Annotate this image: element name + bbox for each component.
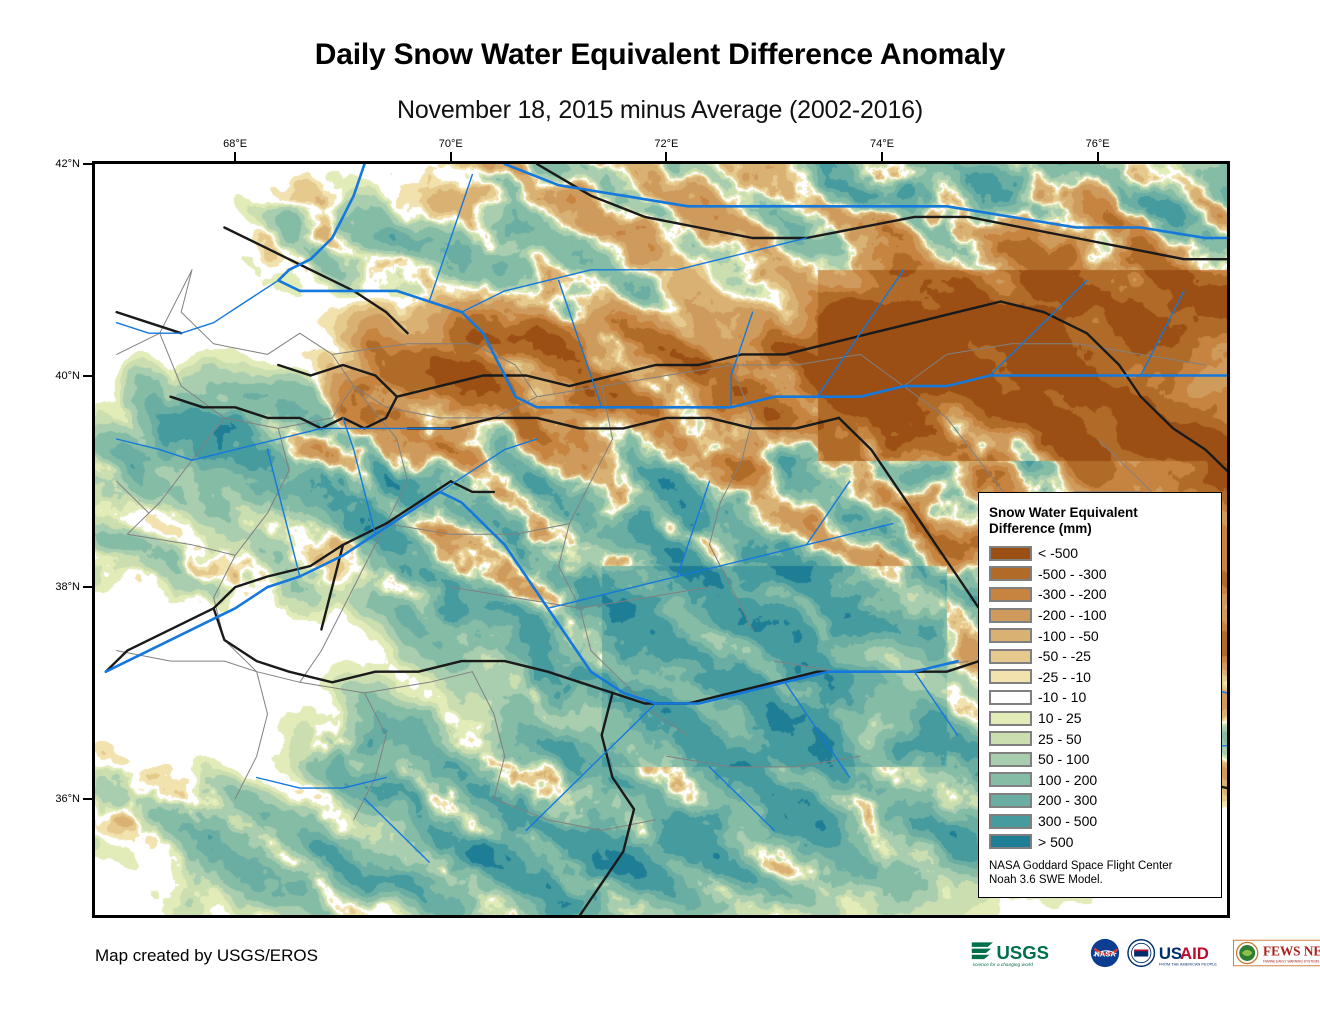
legend-color-swatch — [989, 731, 1032, 746]
legend-entry: -500 - -300 — [989, 564, 1211, 585]
legend-color-swatch — [989, 711, 1032, 726]
lon-tick — [665, 152, 667, 161]
legend-entry: 25 - 50 — [989, 728, 1211, 749]
legend-entry-list: < -500-500 - -300-300 - -200-200 - -100-… — [989, 543, 1211, 852]
legend-color-swatch — [989, 587, 1032, 602]
national-border — [214, 481, 979, 703]
legend-color-swatch — [989, 566, 1032, 581]
legend-entry: < -500 — [989, 543, 1211, 564]
legend-entry: > 500 — [989, 831, 1211, 852]
legend-color-swatch — [989, 669, 1032, 684]
legend-entry: 10 - 25 — [989, 708, 1211, 729]
river-minor — [559, 280, 602, 407]
svg-text:AID: AID — [1180, 944, 1209, 963]
legend-entry-label: -300 - -200 — [1038, 586, 1106, 602]
river-minor — [731, 312, 753, 407]
river-minor — [462, 238, 807, 312]
lon-tick-label: 76°E — [1086, 138, 1110, 150]
admin-boundary — [472, 672, 504, 799]
legend-color-swatch — [989, 834, 1032, 849]
river-minor — [268, 450, 300, 577]
lon-tick — [450, 152, 452, 161]
lon-tick — [1097, 152, 1099, 161]
legend-entry-label: -200 - -100 — [1038, 607, 1106, 623]
page-subtitle: November 18, 2015 minus Average (2002-20… — [0, 72, 1320, 125]
national-border — [117, 312, 182, 333]
lat-tick — [83, 798, 92, 800]
usgs-logo: USGS science for a changing world — [970, 938, 1083, 968]
river-minor — [990, 280, 1087, 375]
legend-color-swatch — [989, 608, 1032, 623]
usaid-logo: US AID FROM THE AMERICAN PEOPLE — [1127, 938, 1226, 968]
legend-color-swatch — [989, 649, 1032, 664]
lat-tick — [83, 375, 92, 377]
lat-tick-label: 38°N — [55, 581, 80, 593]
national-border — [224, 228, 407, 334]
river-minor — [710, 767, 775, 831]
admin-boundary — [300, 386, 408, 682]
admin-boundary — [386, 524, 569, 535]
legend-entry: -100 - -50 — [989, 625, 1211, 646]
legend-entry-label: 50 - 100 — [1038, 751, 1089, 767]
river-minor — [526, 704, 655, 831]
river-minor — [1141, 291, 1184, 376]
river-minor — [343, 418, 375, 534]
admin-boundary — [127, 418, 224, 534]
national-border — [106, 608, 214, 671]
river-major — [106, 492, 958, 704]
legend-entry-label: -25 - -10 — [1038, 669, 1091, 685]
legend-entry-label: -50 - -25 — [1038, 648, 1091, 664]
national-border — [451, 481, 494, 492]
svg-text:science for a changing world: science for a changing world — [973, 962, 1034, 968]
legend-entry-label: -500 - -300 — [1038, 566, 1106, 582]
legend-color-swatch — [989, 772, 1032, 787]
national-border — [580, 693, 634, 915]
national-border — [1001, 302, 1227, 471]
legend-entry-label: 25 - 50 — [1038, 731, 1082, 747]
legend-color-swatch — [989, 628, 1032, 643]
legend-entry-label: 100 - 200 — [1038, 772, 1097, 788]
nasa-logo: NASA — [1090, 938, 1120, 968]
lat-tick-label: 40°N — [55, 370, 80, 382]
svg-text:NASA: NASA — [1094, 950, 1116, 959]
footer-credit: Map created by USGS/EROS — [95, 946, 318, 966]
legend-entry: -300 - -200 — [989, 584, 1211, 605]
logo-bar: USGS science for a changing world NASA U… — [970, 936, 1320, 970]
title-block: Daily Snow Water Equivalent Difference A… — [0, 0, 1320, 125]
lat-tick — [83, 586, 92, 588]
legend-entry-label: -10 - 10 — [1038, 689, 1086, 705]
river-minor — [817, 270, 903, 397]
lat-tick-label: 42°N — [55, 158, 80, 170]
admin-boundary — [117, 333, 160, 354]
legend-color-swatch — [989, 793, 1032, 808]
legend-entry-label: > 500 — [1038, 834, 1073, 850]
legend-entry: -50 - -25 — [989, 646, 1211, 667]
lon-tick — [881, 152, 883, 161]
river-minor — [429, 175, 472, 302]
legend-entry: -10 - 10 — [989, 687, 1211, 708]
river-minor — [117, 439, 192, 460]
national-border — [397, 302, 1001, 397]
legend-entry: 50 - 100 — [989, 749, 1211, 770]
lon-tick-label: 70°E — [439, 138, 463, 150]
legend-entry: 100 - 200 — [989, 770, 1211, 791]
lon-tick — [234, 152, 236, 161]
river-major — [278, 164, 1227, 407]
page-title: Daily Snow Water Equivalent Difference A… — [0, 0, 1320, 72]
lat-tick-label: 36°N — [55, 793, 80, 805]
legend-title: Snow Water Equivalent Difference (mm) — [989, 505, 1211, 537]
river-minor — [548, 524, 893, 609]
admin-boundary — [214, 428, 290, 671]
legend-color-swatch — [989, 814, 1032, 829]
legend-color-swatch — [989, 546, 1032, 561]
svg-text:US: US — [1159, 944, 1182, 963]
national-border — [408, 418, 839, 429]
admin-boundary — [666, 756, 860, 767]
legend-entry-label: 10 - 25 — [1038, 710, 1082, 726]
river-minor — [914, 672, 957, 736]
legend-entry: 300 - 500 — [989, 811, 1211, 832]
legend-entry-label: 300 - 500 — [1038, 813, 1097, 829]
legend-entry: -200 - -100 — [989, 605, 1211, 626]
admin-boundary — [451, 587, 710, 608]
lon-tick-label: 74°E — [870, 138, 894, 150]
river-minor — [117, 280, 279, 333]
fewsnet-logo: FEWS NET FAMINE EARLY WARNING SYSTEMS NE… — [1233, 938, 1320, 968]
admin-boundary — [354, 693, 386, 820]
admin-boundary — [904, 344, 1206, 386]
admin-boundary — [127, 534, 235, 555]
legend-entry-label: -100 - -50 — [1038, 628, 1099, 644]
svg-text:FAMINE EARLY WARNING SYSTEMS N: FAMINE EARLY WARNING SYSTEMS NETWORK — [1263, 960, 1320, 964]
admin-boundary — [117, 481, 149, 513]
legend-credit: NASA Goddard Space Flight Center Noah 3.… — [989, 859, 1211, 887]
national-border — [537, 164, 1227, 259]
legend-entry-label: 200 - 300 — [1038, 792, 1097, 808]
river-minor — [192, 428, 451, 460]
river-minor — [677, 481, 709, 576]
svg-text:USGS: USGS — [997, 942, 1049, 963]
svg-text:FEWS NET: FEWS NET — [1263, 944, 1320, 959]
lon-tick-label: 72°E — [654, 138, 678, 150]
legend-entry-label: < -500 — [1038, 545, 1078, 561]
lon-tick-label: 68°E — [223, 138, 247, 150]
river-minor — [257, 778, 386, 789]
legend-panel: Snow Water Equivalent Difference (mm) < … — [978, 492, 1222, 898]
admin-boundary — [160, 270, 354, 429]
svg-text:FROM THE AMERICAN PEOPLE: FROM THE AMERICAN PEOPLE — [1159, 961, 1217, 966]
lat-tick — [83, 163, 92, 165]
river-minor — [365, 799, 430, 863]
legend-color-swatch — [989, 752, 1032, 767]
legend-color-swatch — [989, 690, 1032, 705]
legend-entry: 200 - 300 — [989, 790, 1211, 811]
legend-entry: -25 - -10 — [989, 667, 1211, 688]
